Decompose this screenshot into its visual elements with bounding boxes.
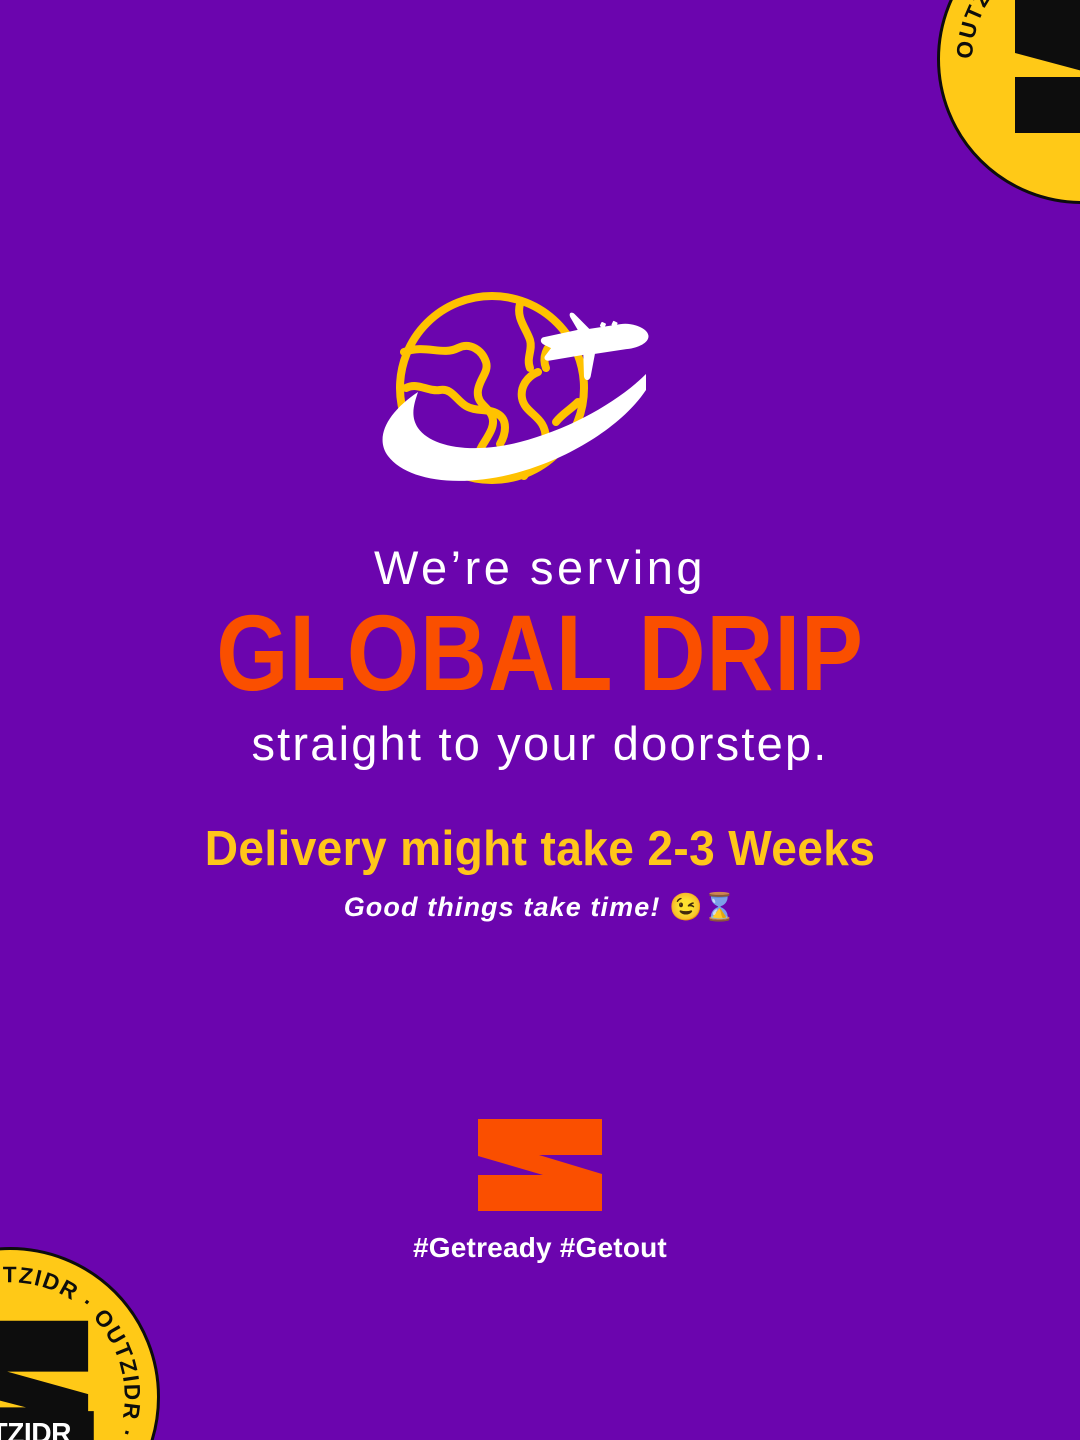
badge-z-mark-top-right xyxy=(987,0,1080,139)
globe-airplane-icon xyxy=(370,280,710,510)
badge-z-mark-bottom-left: OUTZIDR xyxy=(0,1317,105,1440)
wink-hourglass-emoji: 😉⌛ xyxy=(669,892,736,922)
brand-z-logo xyxy=(0,1118,1080,1217)
delivery-subtext-row: Good things take time! 😉⌛ xyxy=(0,891,1080,923)
badge-wordmark-bottom-left: OUTZIDR xyxy=(0,1417,71,1440)
z-logo-icon xyxy=(477,1118,603,1212)
airplane-icon xyxy=(534,290,651,396)
headline-block: We’re serving GLOBAL DRIP straight to yo… xyxy=(0,543,1080,769)
badge-bottom-left: OUTZIDR · OUTZIDR · OUTZIDR · OUTZIDR xyxy=(0,1247,160,1440)
footer-block: #Getready #Getout xyxy=(0,1118,1080,1264)
delivery-notice-block: Delivery might take 2-3 Weeks Good thing… xyxy=(0,821,1080,923)
delivery-estimate-text: Delivery might take 2-3 Weeks xyxy=(32,821,1047,877)
hero-illustration xyxy=(0,272,1080,517)
hashtags-text: #Getready #Getout xyxy=(0,1232,1080,1264)
headline-pre-line: We’re serving xyxy=(0,543,1080,593)
badge-top-right: OUTZIDR · OUTZIDR · OUTZIDR · xyxy=(937,0,1080,204)
headline-post-line: straight to your doorstep. xyxy=(0,719,1080,769)
poster-canvas: OUTZIDR · OUTZIDR · OUTZIDR · OUTZIDR · … xyxy=(0,0,1080,1440)
delivery-subtext: Good things take time! xyxy=(344,892,661,922)
headline-main: GLOBAL DRIP xyxy=(76,599,1005,707)
